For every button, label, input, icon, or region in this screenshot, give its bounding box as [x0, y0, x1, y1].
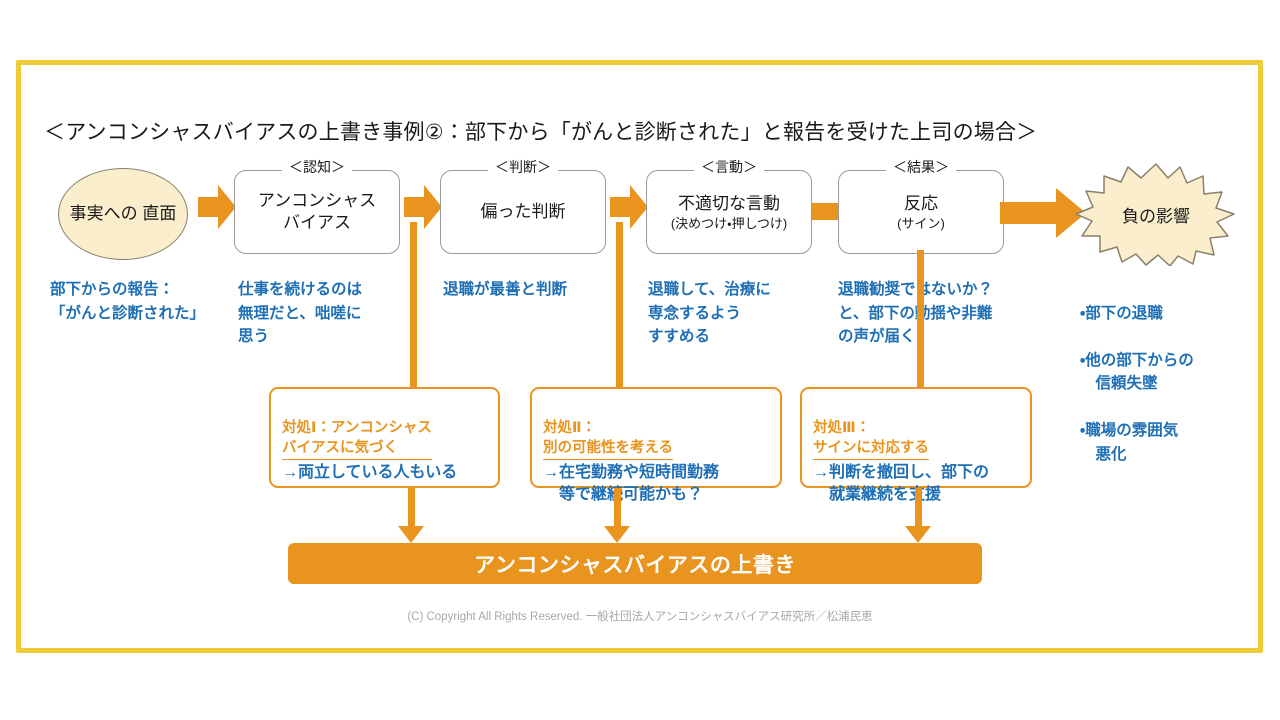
- connector-line-to-countermeasure-3: [917, 250, 924, 389]
- countermeasure-head-2: 対処Ⅱ： 別の可能性を考える: [543, 397, 771, 460]
- start-node-label: 事実への 直面: [70, 203, 177, 225]
- description-cognition: 仕事を続けるのは 無理だと、咄嗟に 思う: [238, 278, 413, 349]
- countermeasure-body-1: →両立している人もいる: [282, 462, 489, 484]
- description-behavior: 退職して、治療に 専念するよう すすめる: [648, 278, 828, 349]
- stage-caption-judgement: ＜判断＞: [488, 160, 558, 174]
- stage-caption-cognition: ＜認知＞: [282, 160, 352, 174]
- countermeasure-body-2: →在宅勤務や短時間勤務 等で継続可能かも？: [543, 462, 771, 507]
- flow-connector-4: [812, 203, 840, 220]
- summary-banner: アンコンシャスバイアスの上書き: [288, 543, 982, 584]
- description-judgement: 退職が最善と判断: [443, 278, 618, 302]
- stage-box-judgement: ＜判断＞ 偏った判断: [440, 170, 606, 254]
- outcome-list: ・部下の退職 ・他の部下からの 信頼失墜 ・職場の雰囲気 悪化: [1080, 278, 1265, 490]
- stage-caption-behavior: ＜言動＞: [694, 160, 764, 174]
- countermeasure-head-1: 対処Ⅰ：アンコンシャス バイアスに気づく: [282, 397, 489, 460]
- countermeasure-head-3-text: 対処Ⅲ： サインに対応する: [813, 418, 929, 460]
- flow-arrow-1: [198, 185, 236, 229]
- countermeasure-head-1-text: 対処Ⅰ：アンコンシャス バイアスに気づく: [282, 418, 432, 460]
- end-node-negative-impact: 負の影響: [1076, 162, 1236, 266]
- stage-sub-behavior: (決めつけ・押しつけ): [671, 216, 787, 232]
- page-title: ＜アンコンシャスバイアスの上書き事例②：部下から「がんと診断された」と報告を受け…: [44, 116, 1037, 146]
- list-item: ・他の部下からの 信頼失墜: [1080, 349, 1265, 396]
- list-item: ・部下の退職: [1080, 302, 1265, 326]
- down-arrow-1: [398, 488, 424, 543]
- stage-main-behavior: 不適切な言動: [678, 193, 780, 215]
- countermeasure-box-2: 対処Ⅱ： 別の可能性を考える →在宅勤務や短時間勤務 等で継続可能かも？: [530, 387, 782, 488]
- stage-main-cognition: アンコンシャス バイアス: [258, 190, 376, 234]
- description-report: 部下からの報告： 「がんと診断された」: [50, 278, 230, 325]
- stage-sub-result: (サイン): [897, 216, 945, 232]
- connector-line-to-countermeasure-2: [616, 222, 623, 389]
- stage-box-result: ＜結果＞ 反応 (サイン): [838, 170, 1004, 254]
- start-node-fact-confrontation: 事実への 直面: [58, 168, 188, 260]
- end-node-label: 負の影響: [1076, 162, 1236, 266]
- countermeasure-box-3: 対処Ⅲ： サインに対応する →判断を撤回し、部下の 就業継続を支援: [800, 387, 1032, 488]
- countermeasure-box-1: 対処Ⅰ：アンコンシャス バイアスに気づく →両立している人もいる: [269, 387, 500, 488]
- copyright-notice: (C) Copyright All Rights Reserved. 一般社団法…: [0, 608, 1280, 624]
- down-arrow-3: [905, 488, 931, 543]
- stage-box-behavior: ＜言動＞ 不適切な言動 (決めつけ・押しつけ): [646, 170, 812, 254]
- description-result: 退職勧奨ではないか？ と、部下の動揺や非難 の声が届く: [838, 278, 1038, 349]
- stage-box-cognition: ＜認知＞ アンコンシャス バイアス: [234, 170, 400, 254]
- list-item: ・職場の雰囲気 悪化: [1080, 419, 1265, 466]
- stage-caption-result: ＜結果＞: [886, 160, 956, 174]
- connector-line-to-countermeasure-1: [410, 222, 417, 389]
- stage-main-result: 反応: [904, 193, 938, 215]
- stage-main-judgement: 偏った判断: [481, 201, 566, 223]
- countermeasure-head-3: 対処Ⅲ： サインに対応する: [813, 397, 1021, 460]
- slide-canvas: ＜アンコンシャスバイアスの上書き事例②：部下から「がんと診断された」と報告を受け…: [0, 0, 1280, 720]
- countermeasure-head-2-text: 対処Ⅱ： 別の可能性を考える: [543, 418, 673, 460]
- flow-arrow-to-impact: [1000, 188, 1086, 238]
- down-arrow-2: [604, 488, 630, 543]
- summary-banner-label: アンコンシャスバイアスの上書き: [474, 549, 796, 579]
